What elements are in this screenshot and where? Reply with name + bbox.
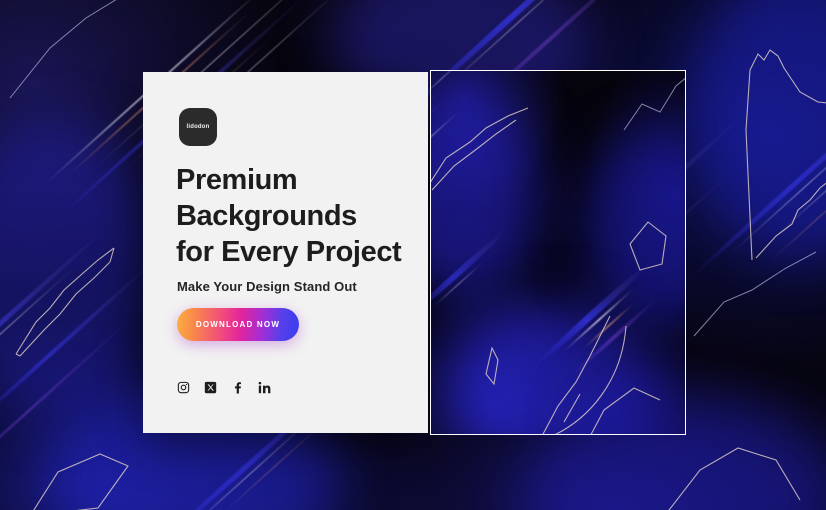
panel-wire-sliver bbox=[482, 346, 502, 388]
instagram-icon[interactable] bbox=[177, 381, 190, 394]
social-links bbox=[177, 381, 271, 394]
brand-logo-text: lidodon bbox=[186, 124, 209, 130]
headline-line-3: for Every Project bbox=[176, 234, 416, 270]
background-wire-bottom-left bbox=[22, 446, 142, 510]
page-title: Premium Backgrounds for Every Project bbox=[176, 162, 416, 270]
facebook-icon[interactable] bbox=[231, 381, 244, 394]
artwork-panel bbox=[430, 70, 686, 435]
subtitle: Make Your Design Stand Out bbox=[177, 279, 357, 294]
artwork-panel-image bbox=[430, 70, 686, 435]
background-wire-bottom-right bbox=[660, 430, 810, 510]
x-twitter-icon[interactable] bbox=[204, 381, 217, 394]
headline-line-2: Backgrounds bbox=[176, 198, 416, 234]
linkedin-icon[interactable] bbox=[258, 381, 271, 394]
background-wire-left bbox=[10, 230, 150, 360]
background-wire-top-right bbox=[690, 250, 820, 340]
download-now-label: DOWNLOAD NOW bbox=[196, 320, 280, 329]
promo-card: lidodon Premium Backgrounds for Every Pr… bbox=[143, 72, 428, 433]
download-now-button[interactable]: DOWNLOAD NOW bbox=[177, 308, 299, 341]
panel-wire-top-right bbox=[620, 74, 686, 134]
promo-stage: lidodon Premium Backgrounds for Every Pr… bbox=[0, 0, 826, 510]
panel-wire-bottom bbox=[580, 370, 670, 435]
panel-wire-left bbox=[430, 104, 534, 194]
panel-wire-diamond bbox=[626, 218, 672, 274]
background-wire-right bbox=[700, 10, 826, 260]
headline-line-1: Premium bbox=[176, 162, 416, 198]
brand-logo-badge[interactable]: lidodon bbox=[179, 108, 217, 146]
background-wire-top-left bbox=[0, 0, 140, 100]
